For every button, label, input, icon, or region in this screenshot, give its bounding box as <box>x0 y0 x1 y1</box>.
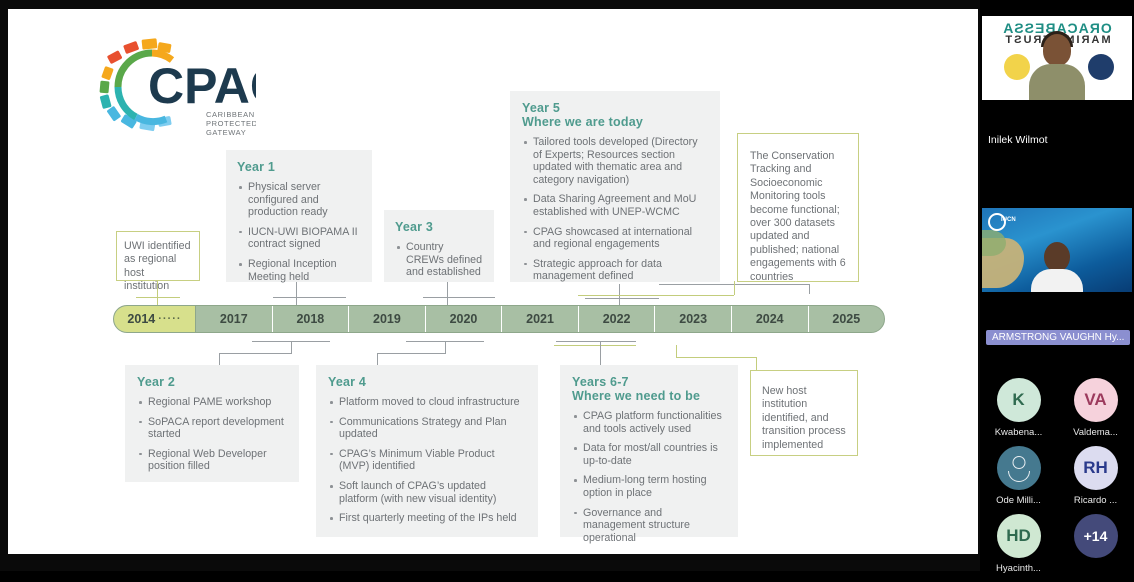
connector-newhost-h <box>676 357 756 358</box>
connector-year1 <box>296 281 297 306</box>
card-year-1[interactable]: Year 1 Physical server configured and pr… <box>226 150 372 282</box>
card-year-2-bullets: Regional PAME workshop SoPACA report dev… <box>137 396 287 473</box>
video-tile-armstrong-vaughn[interactable]: IUCN ARMSTRONG VAUGHN Hy... <box>980 208 1134 298</box>
bullet: Platform moved to cloud infrastructure <box>328 396 526 409</box>
bullet: Regional Inception Meeting held <box>237 258 361 283</box>
card-years-6-7-title: Years 6-7 Where we need to be <box>572 375 726 403</box>
video-tile-inilek-wilmot[interactable]: ORACABESSA MARINE TRUST Inilek Wilmot <box>980 16 1134 106</box>
span-year5 <box>585 298 659 299</box>
connector-newhost-v1 <box>676 345 677 357</box>
card-year-3-bullets: Country CREWs defined and established <box>395 241 483 279</box>
avatar-row: HD Hyacinth... +14 <box>980 514 1134 574</box>
logo-badge-left-icon <box>1004 54 1030 80</box>
card-years-6-7-bullets: CPAG platform functionalities and tools … <box>572 410 726 544</box>
timeline-year-label: 2019 <box>373 312 401 326</box>
logo-wordmark: CPAG <box>148 58 256 114</box>
bullet: CPAG platform functionalities and tools … <box>572 410 726 435</box>
head-shape <box>1043 34 1071 66</box>
participant-name-inilek-wilmot: Inilek Wilmot <box>988 134 1048 146</box>
timeline-year-label: 2018 <box>296 312 324 326</box>
avatar-name: Kwabena... <box>984 427 1054 438</box>
span-year5-accent <box>578 295 660 296</box>
connector-year2-v1 <box>291 341 292 353</box>
timeline-segment-2019[interactable]: 2019 <box>349 306 426 332</box>
card-year-5-bullets: Tailored tools developed (Directory of E… <box>522 136 708 283</box>
avatar-initials: K <box>1012 390 1024 410</box>
card-uwi-host-text: UWI identified as regional host institut… <box>124 240 192 294</box>
avatar-initials: VA <box>1084 390 1106 410</box>
participant-silhouette <box>1031 242 1083 292</box>
timeline-segment-2020[interactable]: 2020 <box>426 306 503 332</box>
bullet: Regional PAME workshop <box>137 396 287 409</box>
span-year67-accent <box>554 345 636 346</box>
cpag-logo-mark: CPAG CARIBBEAN PROTECTED AREAS GATEWAY <box>96 27 256 135</box>
card-year-4[interactable]: Year 4 Platform moved to cloud infrastru… <box>316 365 538 537</box>
card-conservation-tracking[interactable]: The Conservation Tracking and Socioecono… <box>737 133 859 282</box>
timeline-segment-2021[interactable]: 2021 <box>502 306 579 332</box>
bullet: Physical server configured and productio… <box>237 181 361 219</box>
bullet: CPAG showcased at international and regi… <box>522 226 708 251</box>
avatar-name: Ode Milli... <box>984 495 1054 506</box>
connector-year4-h <box>377 353 446 354</box>
shared-slide[interactable]: CPAG CARIBBEAN PROTECTED AREAS GATEWAY <box>8 9 978 554</box>
span-year67 <box>556 341 636 342</box>
timeline-year-label: 2017 <box>220 312 248 326</box>
participant-avatar-valdema[interactable]: VA Valdema... <box>1061 378 1131 438</box>
head-shape <box>1044 242 1070 272</box>
torso-shape <box>1031 269 1083 292</box>
iucn-logo-label: IUCN <box>1001 217 1016 223</box>
card-year-3[interactable]: Year 3 Country CREWs defined and establi… <box>384 210 494 282</box>
bullet: Tailored tools developed (Directory of E… <box>522 136 708 186</box>
bullet: CPAG’s Minimum Viable Product (MVP) iden… <box>328 448 526 473</box>
card-uwi-host[interactable]: UWI identified as regional host institut… <box>116 231 200 281</box>
bullet: First quarterly meeting of the IPs held <box>328 512 526 525</box>
card-year-1-bullets: Physical server configured and productio… <box>237 181 361 283</box>
span-year1 <box>273 297 346 298</box>
card-year-3-title: Year 3 <box>395 220 483 234</box>
logo-line-3: GATEWAY <box>206 128 246 135</box>
participant-avatar-ricardo[interactable]: RH Ricardo ... <box>1061 446 1131 506</box>
card-years-6-7[interactable]: Years 6-7 Where we need to be CPAG platf… <box>560 365 738 537</box>
card-year-4-bullets: Platform moved to cloud infrastructure C… <box>328 396 526 525</box>
card-new-host[interactable]: New host institution identified, and tra… <box>750 370 858 456</box>
card-years-6-7-subtitle: Where we need to be <box>572 389 726 403</box>
timeline-year-label: 2014 <box>127 312 155 326</box>
connector-cons-accent-h <box>658 295 734 296</box>
card-new-host-text: New host institution identified, and tra… <box>762 385 846 452</box>
person-icon-head <box>1012 456 1025 469</box>
overflow-badge: +14 <box>1074 514 1118 558</box>
participant-avatar-ode-milli[interactable]: Ode Milli... <box>984 446 1054 506</box>
card-year-5[interactable]: Year 5 Where we are today Tailored tools… <box>510 91 720 282</box>
timeline-segment-2025[interactable]: 2025 <box>809 306 885 332</box>
avatar-row: Ode Milli... RH Ricardo ... <box>980 446 1134 506</box>
card-year-1-title: Year 1 <box>237 160 361 174</box>
logo-line-1: CARIBBEAN <box>206 110 255 119</box>
bullet: Country CREWs defined and established <box>395 241 483 279</box>
bullet: Regional Web Developer position filled <box>137 448 287 473</box>
slide-canvas: CPAG CARIBBEAN PROTECTED AREAS GATEWAY <box>8 9 978 554</box>
cpag-logo: CPAG CARIBBEAN PROTECTED AREAS GATEWAY <box>96 27 256 135</box>
connector-newhost-v2 <box>756 357 757 371</box>
timeline-year-label: 2025 <box>832 312 860 326</box>
span-year3 <box>423 297 495 298</box>
card-year-4-title: Year 4 <box>328 375 526 389</box>
card-year-2-title: Year 2 <box>137 375 287 389</box>
logo-line-2: PROTECTED AREAS <box>206 119 256 128</box>
timeline-year-label: 2024 <box>756 312 784 326</box>
avatar-name: Valdema... <box>1061 427 1131 438</box>
timeline-year-label: 2023 <box>679 312 707 326</box>
connector-year2-h <box>219 353 292 354</box>
card-year-2[interactable]: Year 2 Regional PAME workshop SoPACA rep… <box>125 365 299 482</box>
avatar: K <box>997 378 1041 422</box>
bullet: Soft launch of CPAG’s updated platform (… <box>328 480 526 505</box>
bullet: IUCN-UWI BIOPAMA II contract signed <box>237 226 361 251</box>
avatar <box>997 446 1041 490</box>
participant-avatar-kwabena[interactable]: K Kwabena... <box>984 378 1054 438</box>
avatar: VA <box>1074 378 1118 422</box>
timeline-ellipsis: ····· <box>158 313 181 325</box>
bullet: Data Sharing Agreement and MoU establish… <box>522 193 708 218</box>
card-year-5-subtitle: Where we are today <box>522 115 708 129</box>
bullet: Governance and management structure oper… <box>572 507 726 545</box>
bullet: Data for most/all countries is up-to-dat… <box>572 442 726 467</box>
timeline-segment-2017[interactable]: 2017 <box>196 306 273 332</box>
avatar-name: Ricardo ... <box>1061 495 1131 506</box>
connector-year3 <box>447 281 448 306</box>
participant-rail: ORACABESSA MARINE TRUST Inilek Wilmot IU… <box>980 0 1134 571</box>
participant-avatar-hyacinth[interactable]: HD Hyacinth... <box>984 514 1054 574</box>
video-feed: ORACABESSA MARINE TRUST <box>982 16 1132 100</box>
connector-year4-v1 <box>445 341 446 353</box>
avatar-initials: HD <box>1006 526 1031 546</box>
avatar: HD <box>997 514 1041 558</box>
span-uwi <box>136 297 180 298</box>
overflow-count-label: +14 <box>1084 528 1108 544</box>
connector-cons-accent-v <box>734 281 735 295</box>
participant-name-armstrong-vaughn: ARMSTRONG VAUGHN Hy... <box>986 330 1130 345</box>
connector-cons-v <box>809 284 810 294</box>
logo-badge-right-icon <box>1088 54 1114 80</box>
card-year-5-title: Year 5 Where we are today <box>522 101 708 129</box>
timeline-year-label: 2022 <box>603 312 631 326</box>
bullet: SoPACA report development started <box>137 416 287 441</box>
avatar-initials: RH <box>1083 458 1108 478</box>
video-feed: IUCN <box>982 208 1132 292</box>
participant-overflow-count[interactable]: +14 <box>1061 514 1131 574</box>
card-years-6-7-title-text: Years 6-7 <box>572 375 629 389</box>
screen: CPAG CARIBBEAN PROTECTED AREAS GATEWAY <box>0 0 1134 571</box>
timeline-bar: 2014 ····· 2017 2018 2019 2020 2021 2022… <box>113 305 885 333</box>
timeline-segment-2014[interactable]: 2014 ····· <box>114 306 196 332</box>
card-conservation-tracking-text: The Conservation Tracking and Socioecono… <box>750 150 846 284</box>
torso-shape <box>1029 64 1085 100</box>
card-year-5-title-text: Year 5 <box>522 101 560 115</box>
avatar-row: K Kwabena... VA Valdema... <box>980 378 1134 438</box>
avatar: RH <box>1074 446 1118 490</box>
bullet: Medium-long term hosting option in place <box>572 474 726 499</box>
bullet: Strategic approach for data management d… <box>522 258 708 283</box>
person-icon-body <box>1008 471 1030 482</box>
avatar-name: Hyacinth... <box>984 563 1054 574</box>
timeline-segment-2023[interactable]: 2023 <box>655 306 732 332</box>
timeline-segment-2024[interactable]: 2024 <box>732 306 809 332</box>
bullet: Communications Strategy and Plan updated <box>328 416 526 441</box>
timeline-year-label: 2021 <box>526 312 554 326</box>
timeline-segment-2018[interactable]: 2018 <box>273 306 350 332</box>
timeline-year-label: 2020 <box>450 312 478 326</box>
participant-silhouette <box>1029 34 1085 100</box>
participant-avatar-grid: K Kwabena... VA Valdema... Ode Milli... <box>980 378 1134 582</box>
timeline-segment-2022[interactable]: 2022 <box>579 306 656 332</box>
